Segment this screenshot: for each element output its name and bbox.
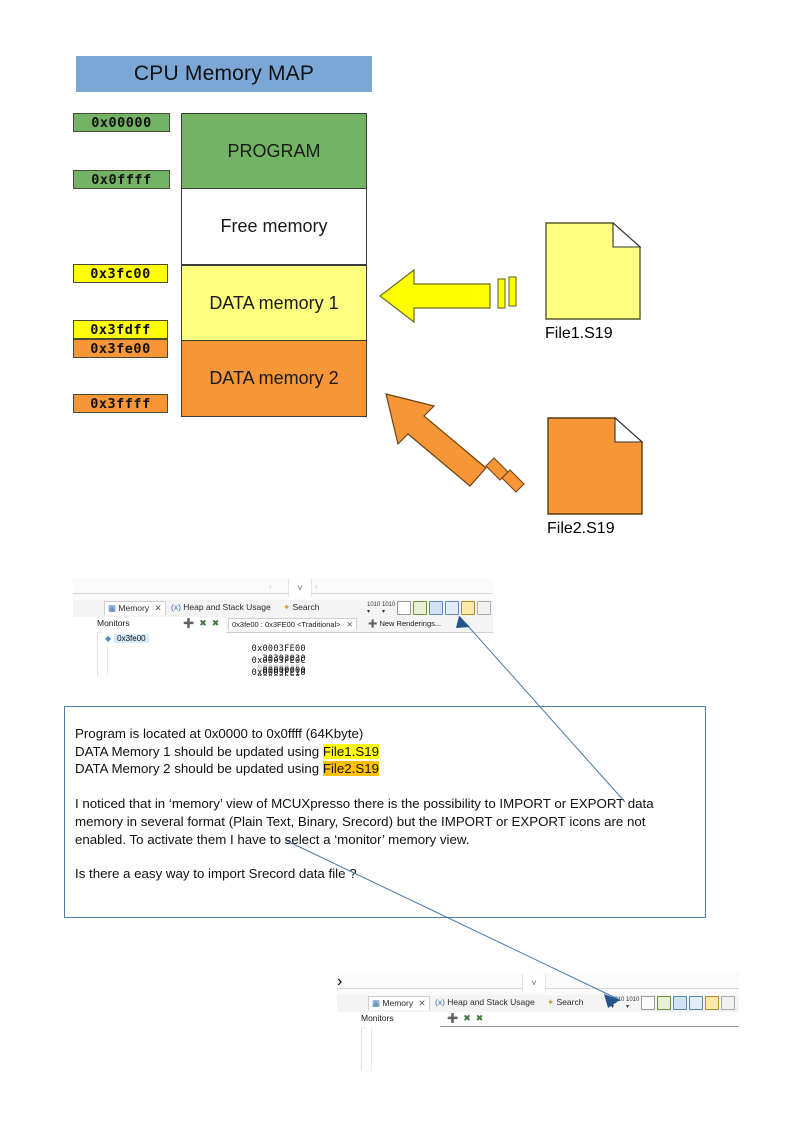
tab-search[interactable]: ✦ Search: [547, 997, 583, 1008]
reset-icon[interactable]: [445, 601, 459, 615]
close-icon[interactable]: ✕: [418, 998, 425, 1008]
memory-view-toolbar: 1010▾ 1010▾: [611, 996, 735, 1010]
tab-label: Search: [557, 997, 584, 1007]
tab-label: Memory: [382, 998, 413, 1008]
page-title: CPU Memory MAP: [76, 56, 372, 92]
tab-heap-and-stack-usage[interactable]: (x) Heap and Stack Usage: [171, 602, 271, 612]
export-icon[interactable]: 1010▾: [626, 997, 639, 1009]
toggle-split-icon[interactable]: [429, 601, 443, 615]
perspective-strip: › ˅ ‹: [337, 973, 739, 995]
view-menu-icon[interactable]: [477, 601, 491, 615]
tab-heap-and-stack-usage[interactable]: (x) Heap and Stack Usage: [435, 997, 535, 1007]
tab-memory[interactable]: ▦ Memory ✕: [368, 996, 430, 1010]
tab-label: Search: [293, 602, 320, 612]
tab-traditional-rendering[interactable]: 0x3fe00 : 0x3FE00 <Traditional> ✕: [228, 618, 357, 630]
note-line-2-prefix: DATA Memory 1 should be updated using: [75, 744, 323, 759]
address-text: 0x3fe00: [90, 341, 150, 357]
perspective-strip: › ˅ ‹: [73, 578, 493, 600]
address-label-0x0ffff: 0x0ffff: [73, 170, 170, 189]
memory-block-label: PROGRAM: [227, 141, 320, 162]
memory-block-label: DATA memory 1: [209, 293, 338, 314]
view-tab-bar: ▦ Memory ✕ (x) Heap and Stack Usage ✦ Se…: [337, 995, 739, 1013]
address-label-0x3fe00: 0x3fe00: [73, 339, 168, 358]
monitors-header: Monitors ➕ ✖ ✖: [73, 617, 225, 632]
address-label-0x3ffff: 0x3ffff: [73, 394, 168, 413]
arrow-file2-to-data2: [382, 390, 542, 495]
note-line-1: Program is located at 0x0000 to 0x0ffff …: [75, 725, 697, 743]
note-line-2: DATA Memory 1 should be updated using Fi…: [75, 743, 697, 761]
monitors-label: Monitors: [97, 618, 130, 628]
address-text: 0x00000: [91, 115, 151, 131]
vertical-scrollbar[interactable]: ^: [362, 1025, 372, 1071]
link-icon[interactable]: [657, 996, 671, 1010]
rendering-tab-label: 0x3fe00 : 0x3FE00 <Traditional>: [232, 620, 341, 629]
monitor-address-label: 0x3fe00: [114, 634, 148, 643]
monitor-bullet-icon: ◆: [105, 634, 111, 643]
view-tab-bar: ▦ Memory ✕ (x) Heap and Stack Usage ✦ Se…: [73, 600, 493, 618]
note-paragraph-2: I noticed that in ‘memory’ view of MCUXp…: [75, 795, 697, 848]
memory-block-label: DATA memory 2: [209, 368, 338, 389]
new-rendering-icon[interactable]: [641, 996, 655, 1010]
memory-block-program: PROGRAM: [181, 113, 367, 189]
file-label: File1.S19: [545, 325, 641, 343]
pin-icon[interactable]: [705, 996, 719, 1010]
screenshot-memory-view-bottom: › ˅ ‹ ⁺ ☐ ☐ ▾ ^ ▦ Memory ✕ (x) Heap and …: [337, 973, 739, 1071]
memory-block-data1: DATA memory 1: [181, 265, 367, 341]
address-text: 0x3fdff: [90, 322, 150, 338]
remove-all-monitors-icon[interactable]: ✖: [476, 1013, 484, 1024]
new-renderings-label: New Renderings...: [379, 619, 441, 628]
scroll-left-icon[interactable]: ‹: [315, 582, 318, 591]
file-shape-icon: [545, 222, 641, 320]
add-icon: ➕: [368, 619, 377, 628]
scroll-right-icon[interactable]: ›: [269, 582, 272, 591]
address-text: 0x3ffff: [90, 396, 150, 412]
address-label-0x3fdff: 0x3fdff: [73, 320, 168, 339]
view-menu-icon[interactable]: [721, 996, 735, 1010]
import-icon[interactable]: 1010▾: [367, 602, 380, 614]
tab-label: Heap and Stack Usage: [183, 602, 270, 612]
new-rendering-icon[interactable]: [397, 601, 411, 615]
arrow-file1-to-data1: [378, 258, 528, 333]
toggle-split-icon[interactable]: [673, 996, 687, 1010]
tab-search[interactable]: ✦ Search: [283, 602, 319, 613]
memory-block-label: Free memory: [220, 216, 327, 237]
note-content: Program is located at 0x0000 to 0x0ffff …: [75, 725, 697, 883]
monitors-label: Monitors: [361, 1013, 394, 1023]
add-monitor-icon[interactable]: ➕: [447, 1013, 458, 1024]
address-label-0x00000: 0x00000: [73, 113, 170, 132]
remove-all-monitors-icon[interactable]: ✖: [212, 618, 220, 629]
memory-view-toolbar: 1010▾ 1010▾: [367, 601, 491, 615]
file-label: File2.S19: [547, 520, 643, 538]
pin-icon[interactable]: [461, 601, 475, 615]
address-text: 0x0ffff: [91, 172, 151, 188]
remove-monitor-icon[interactable]: ✖: [199, 618, 207, 629]
address-label-0x3fc00: 0x3fc00: [73, 264, 168, 283]
tab-label: Memory: [118, 603, 149, 613]
file2-highlight: File2.S19: [323, 761, 379, 776]
add-monitor-icon[interactable]: ➕: [183, 618, 194, 629]
monitors-actions: ➕ ✖ ✖: [447, 1013, 483, 1024]
memory-block-data2: DATA memory 2: [181, 341, 367, 417]
heap-icon: (x): [171, 602, 181, 612]
monitors-actions: ➕ ✖ ✖: [183, 618, 219, 629]
file-shape-icon: [547, 417, 643, 515]
memory-icon: ▦: [372, 998, 380, 1008]
address-text: 0x3fc00: [90, 266, 150, 282]
chevron-down-icon[interactable]: ˅: [288, 579, 312, 597]
search-icon: ✦: [547, 997, 554, 1007]
close-icon[interactable]: ✕: [154, 603, 161, 613]
note-line-3: DATA Memory 2 should be updated using Fi…: [75, 760, 697, 778]
spacer: [75, 778, 697, 795]
file-icon-file2: File2.S19: [547, 417, 643, 538]
hex-row: 0x0003FE18 FFFFFFFF FFFFFFFF FFFFFFFF ÿÿ…: [230, 658, 306, 676]
memory-icon: ▦: [108, 603, 116, 613]
tab-memory[interactable]: ▦ Memory ✕: [104, 601, 166, 615]
page-title-text: CPU Memory MAP: [134, 62, 314, 86]
connector-lines: [0, 0, 794, 1123]
monitors-header: Monitors ➕ ✖ ✖: [337, 1012, 739, 1027]
heap-icon: (x): [435, 997, 445, 1007]
file-icon-file1: File1.S19: [545, 222, 641, 343]
hex-address: 0x0003FE18: [252, 668, 306, 676]
new-renderings-tab[interactable]: ➕ New Renderings...: [368, 619, 441, 628]
import-icon[interactable]: 1010▾: [611, 997, 624, 1009]
file1-highlight: File1.S19: [323, 744, 379, 759]
tab-label: Heap and Stack Usage: [447, 997, 534, 1007]
spacer: [75, 848, 697, 865]
chevron-down-icon[interactable]: ˅: [522, 974, 546, 992]
link-icon[interactable]: [413, 601, 427, 615]
memory-block-free: Free memory: [181, 189, 367, 265]
reset-icon[interactable]: [689, 996, 703, 1010]
export-icon[interactable]: 1010▾: [382, 602, 395, 614]
divider: [73, 593, 493, 594]
screenshot-memory-view-top: › ˅ ‹ ⁺ ☐ ☐ ▾ ^ ▦ Memory ✕ (x) Heap and …: [73, 578, 493, 676]
note-line-3-prefix: DATA Memory 2 should be updated using: [75, 761, 323, 776]
search-icon: ✦: [283, 602, 290, 612]
note-paragraph-3: Is there a easy way to import Srecord da…: [75, 865, 697, 883]
divider: [440, 1026, 739, 1027]
remove-monitor-icon[interactable]: ✖: [463, 1013, 471, 1024]
close-icon[interactable]: ✕: [347, 620, 353, 629]
renderings-tab-bar: 0x3fe00 : 0x3FE00 <Traditional> ✕ ➕ New …: [226, 617, 493, 633]
note-box: Program is located at 0x0000 to 0x0ffff …: [64, 706, 706, 918]
monitor-list-item[interactable]: ◆ 0x3fe00: [105, 634, 149, 643]
